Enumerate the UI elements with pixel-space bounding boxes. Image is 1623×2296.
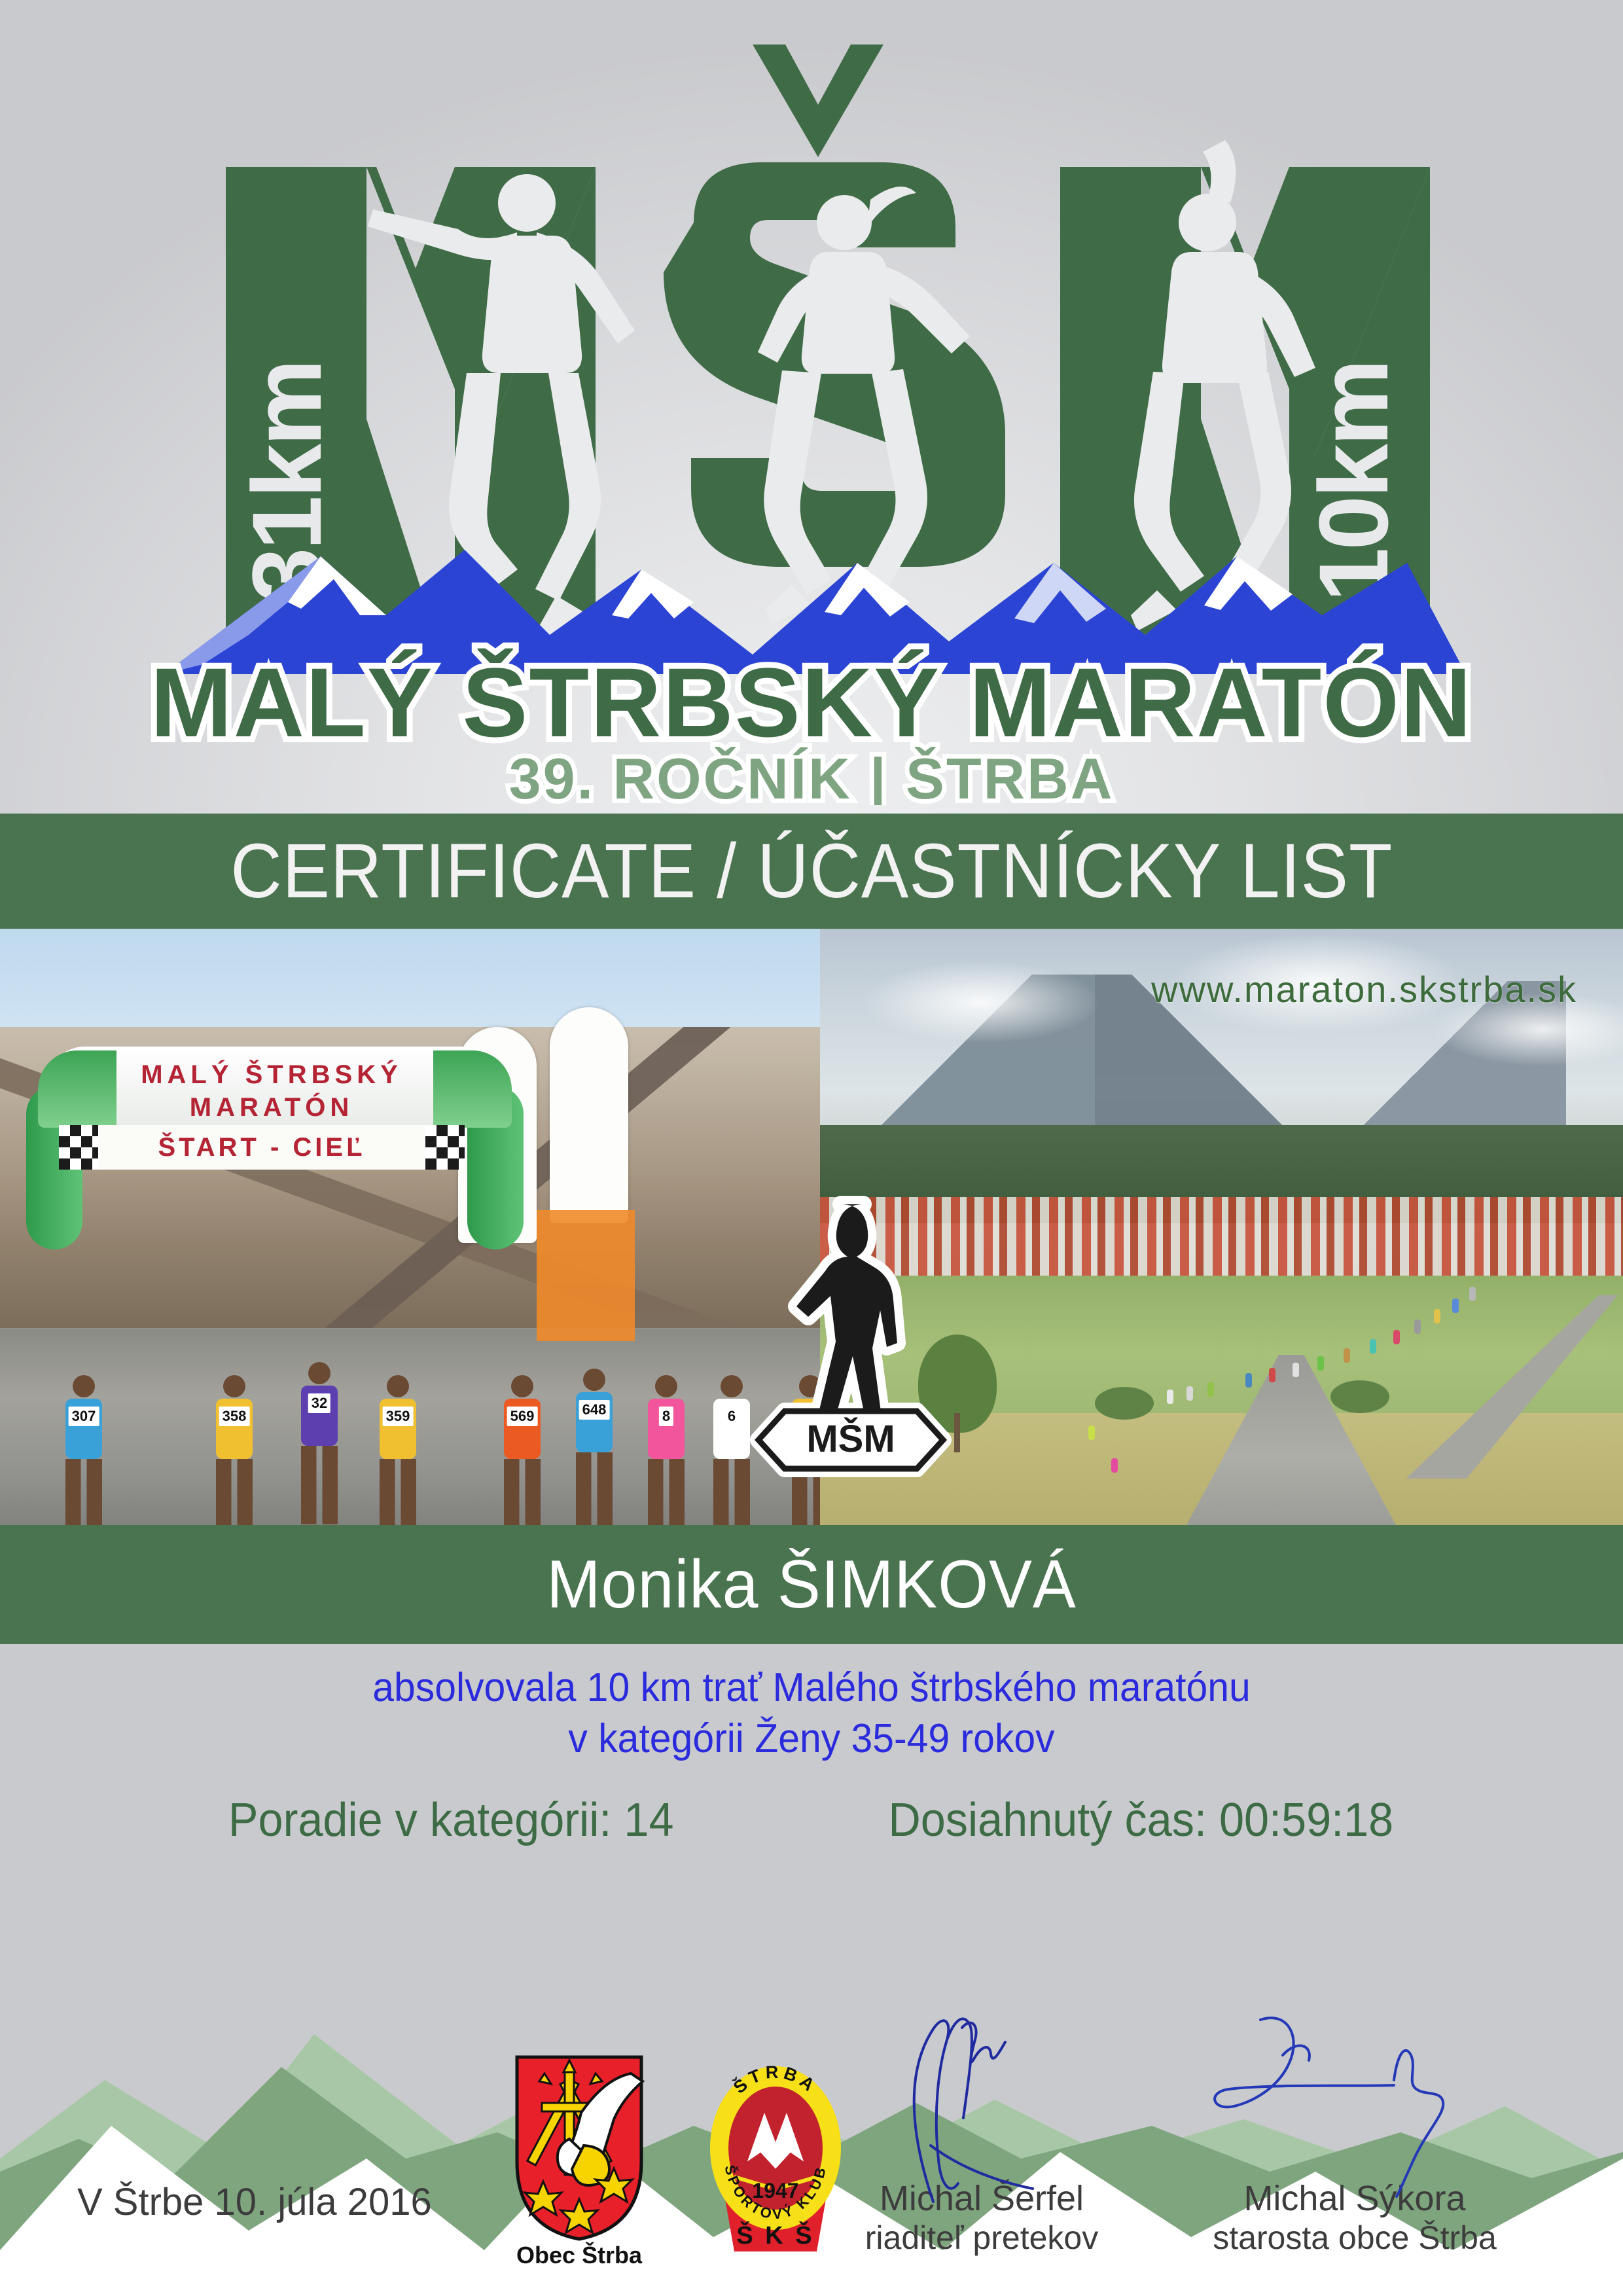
participant-name-band: Monika ŠIMKOVÁ xyxy=(0,1525,1623,1644)
bush xyxy=(1330,1380,1389,1413)
certificate-title: CERTIFICATE / ÚČASTNÍCKY LIST xyxy=(230,827,1393,916)
crest-caption: Obec Štrba xyxy=(516,2241,643,2269)
category-rank: Poradie v kategórii: 14 xyxy=(228,1793,673,1847)
runner-dot xyxy=(1245,1373,1252,1388)
runner-dot xyxy=(1344,1348,1350,1363)
certificate-page: 31km xyxy=(0,0,1623,2296)
runner-dot xyxy=(1393,1330,1400,1344)
runner-dot xyxy=(1434,1309,1440,1323)
emblem-text: MŠM xyxy=(806,1418,895,1460)
issue-date: V Štrbe 10. júla 2016 xyxy=(77,2180,432,2224)
results-row: Poradie v kategórii: 14 Dosiahnutý čas: … xyxy=(0,1793,1623,1847)
arch-text-line2: MARATÓN xyxy=(118,1091,425,1124)
runner-dot xyxy=(1269,1368,1275,1382)
msm-logo: 31km xyxy=(124,26,1499,805)
runner: 32 xyxy=(301,1362,338,1524)
signature-role: riaditeľ pretekov xyxy=(844,2219,1119,2257)
sks-year: 1947 xyxy=(752,2179,798,2202)
bush xyxy=(1095,1387,1154,1420)
caron-accent xyxy=(753,45,883,157)
runner-dot xyxy=(1293,1363,1299,1377)
signature-stroke-sykora xyxy=(1198,2008,1472,2198)
start-finish-banner: ŠTART - CIEĽ xyxy=(59,1125,465,1170)
website-url: www.maraton.skstrba.sk xyxy=(1151,968,1577,1011)
runner-dot xyxy=(1452,1299,1459,1313)
obec-strba-coat-of-arms: Obec Štrba xyxy=(504,2047,654,2270)
arch-green-left xyxy=(38,1050,116,1128)
race-start-photo: MALÝ ŠTRBSKÝ MARATÓN ŠTART - CIEĽ 307 35… xyxy=(0,929,820,1525)
runner-dot xyxy=(1469,1287,1476,1301)
runner-dot xyxy=(1207,1382,1214,1397)
runner-dot xyxy=(1111,1458,1118,1473)
checker-right xyxy=(425,1125,465,1170)
sks-strba-club-logo: ŠTRBA ŠPORTOVÝ KLUB 1947 Š K Š xyxy=(694,2049,857,2265)
runner-dot xyxy=(1370,1339,1376,1354)
runner: 307 xyxy=(65,1375,102,1525)
description-line-2: v kategórii Ženy 35-49 rokov xyxy=(41,1713,1582,1765)
runner-dot xyxy=(1414,1319,1421,1334)
arch-green-right xyxy=(433,1050,512,1128)
runner: 8 xyxy=(648,1375,685,1525)
start-finish-text: ŠTART - CIEĽ xyxy=(158,1133,365,1162)
participant-description: absolvovala 10 km trať Malého štrbského … xyxy=(0,1662,1623,1764)
footer: V Štrbe 10. júla 2016 xyxy=(0,1988,1623,2296)
runner: 648 xyxy=(576,1369,613,1525)
runner: 358 xyxy=(216,1375,253,1525)
sponsor-flag-sks xyxy=(550,1007,628,1223)
clouds xyxy=(820,929,1623,1112)
runner-dot xyxy=(1186,1386,1193,1401)
logo-area: 31km xyxy=(0,0,1623,814)
sks-ribbon: Š K Š xyxy=(736,2220,814,2250)
runner-dot xyxy=(1167,1390,1173,1404)
arch-text: MALÝ ŠTRBSKÝ MARATÓN xyxy=(118,1058,425,1124)
logo-subtitle: 39. ROČNÍK | ŠTRBA xyxy=(509,746,1115,805)
participant-name: Monika ŠIMKOVÁ xyxy=(546,1546,1076,1624)
description-line-1: absolvovala 10 km trať Malého štrbského … xyxy=(41,1662,1582,1713)
runner-crowd: 307 358 32 359 569 648 8 6 360 xyxy=(0,1236,820,1525)
logo-title: MALÝ ŠTRBSKÝ MARATÓN xyxy=(151,647,1472,757)
runner: 569 xyxy=(504,1375,541,1525)
signature-role: starosta obce Štrba xyxy=(1198,2219,1512,2257)
checker-left xyxy=(59,1125,98,1170)
signature-stroke-serfel xyxy=(870,2008,1080,2204)
logo-distance-right: 10km xyxy=(1298,361,1408,602)
certificate-title-band: CERTIFICATE / ÚČASTNÍCKY LIST xyxy=(0,814,1623,929)
runner: 359 xyxy=(380,1375,416,1525)
arch-text-line1: MALÝ ŠTRBSKÝ xyxy=(118,1058,425,1091)
finish-time: Dosiahnutý čas: 00:59:18 xyxy=(888,1793,1393,1847)
runner-dot xyxy=(1088,1426,1095,1440)
runner-dot xyxy=(1317,1356,1324,1371)
msm-runner-emblem: MŠM xyxy=(743,1178,959,1486)
